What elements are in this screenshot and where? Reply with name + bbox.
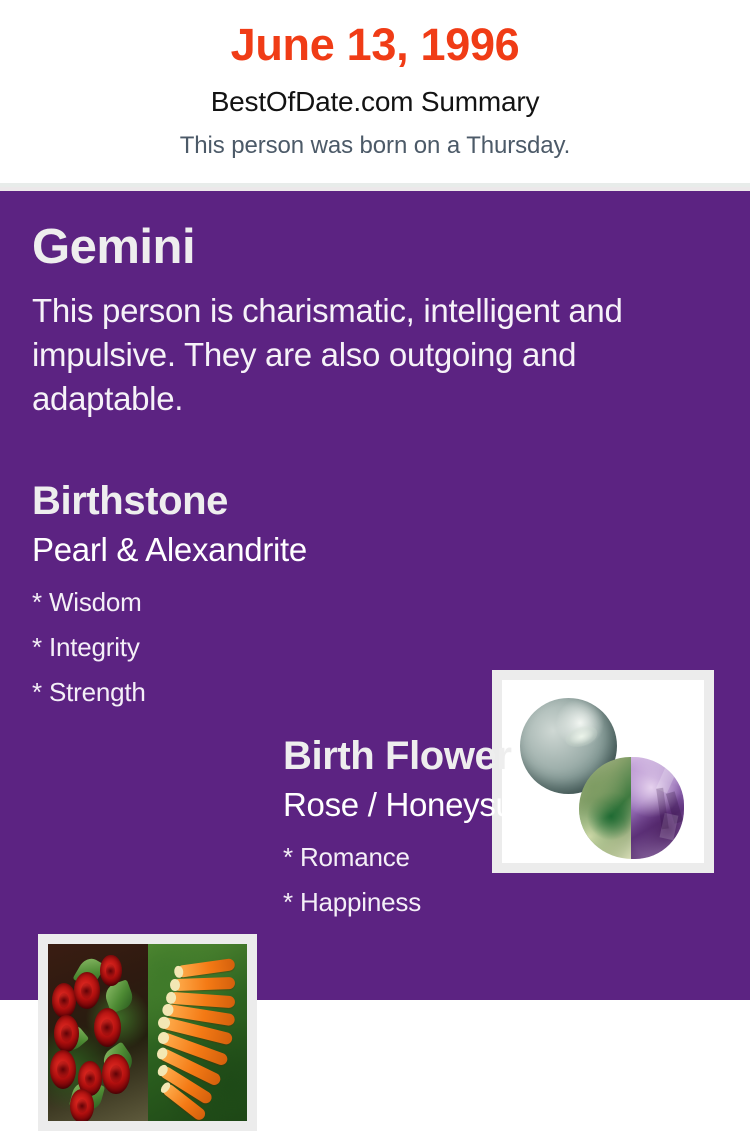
list-item: * Integrity — [32, 625, 472, 670]
flower-split-composite — [48, 944, 247, 1121]
birthstone-trait-list: * Wisdom * Integrity * Strength — [32, 566, 472, 715]
birthstone-names: Pearl & Alexandrite — [32, 521, 472, 566]
honeysuckle-tube — [177, 958, 236, 978]
zodiac-sign-name: Gemini — [32, 223, 195, 272]
summary-panel: Gemini This person is charismatic, intel… — [0, 191, 750, 1000]
red-roses-photo-half — [48, 944, 148, 1121]
rose-bloom — [74, 972, 100, 1009]
rose-bloom — [94, 1008, 121, 1047]
birth-flower-trait-list: * Romance * Happiness — [283, 821, 723, 925]
list-item: * Wisdom — [32, 580, 472, 625]
birthstone-heading: Birthstone — [32, 481, 472, 521]
birth-flower-names: Rose / Honeysuckle — [283, 776, 723, 821]
rose-bloom — [70, 1089, 94, 1121]
birth-flower-image — [38, 934, 257, 1131]
honeysuckle-tube — [173, 977, 235, 992]
birth-flower-image-inner — [48, 944, 247, 1121]
rose-bloom — [50, 1050, 76, 1089]
list-item: * Strength — [32, 670, 472, 715]
rose-bloom — [54, 1015, 79, 1052]
page-header: June 13, 1996 BestOfDate.com Summary Thi… — [0, 0, 750, 183]
honeysuckle-photo-half — [148, 944, 248, 1121]
birth-flower-heading: Birth Flower — [283, 736, 723, 776]
birthstone-section: Birthstone Pearl & Alexandrite * Wisdom … — [32, 481, 472, 715]
birth-flower-section: Birth Flower Rose / Honeysuckle * Romanc… — [283, 736, 723, 925]
list-item: * Romance — [283, 835, 723, 880]
weekday-statement: This person was born on a Thursday. — [0, 116, 750, 158]
rose-bloom — [52, 983, 76, 1018]
rose-bloom — [102, 1054, 130, 1095]
rose-bloom — [100, 955, 122, 987]
zodiac-description: This person is charismatic, intelligent … — [32, 289, 702, 421]
list-item: * Happiness — [283, 880, 723, 925]
page-title: June 13, 1996 — [0, 22, 750, 67]
site-subtitle: BestOfDate.com Summary — [0, 67, 750, 116]
